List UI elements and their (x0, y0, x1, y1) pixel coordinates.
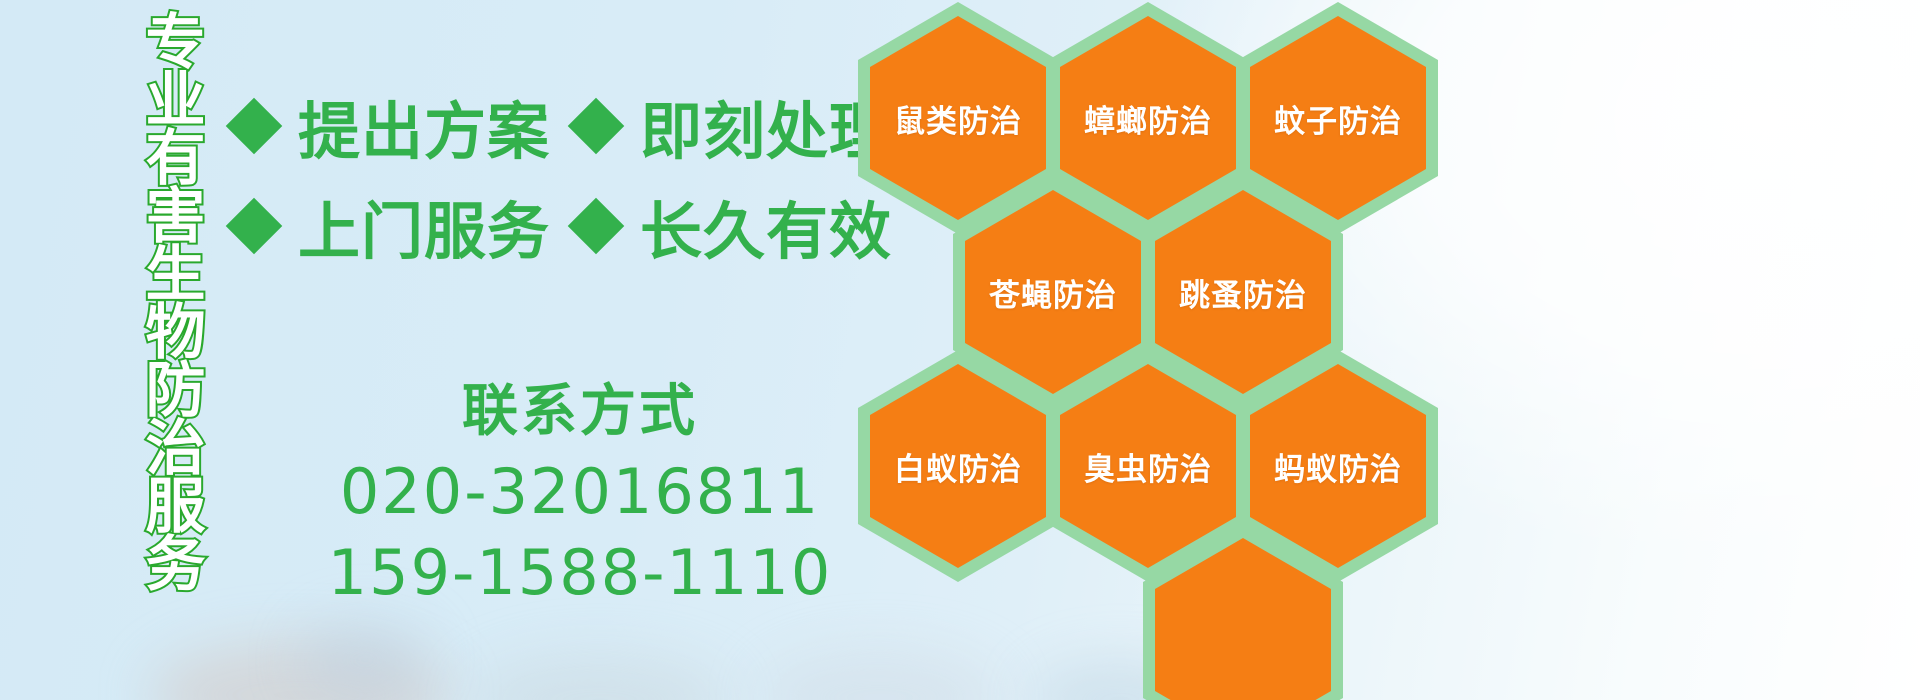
slogan-list: 提出方案 即刻处理 上门服务 长久有效 (230, 76, 890, 276)
diamond-icon (568, 198, 625, 255)
service-label: 苍蝇防治 (989, 270, 1117, 315)
service-label: 蚊子防治 (1274, 96, 1402, 141)
service-label: 鼠类防治 (894, 96, 1022, 141)
hex-inner (1155, 538, 1331, 700)
diamond-icon (226, 198, 283, 255)
hex-inner: 蟑螂防治 (1060, 16, 1236, 220)
contact-block: 联系方式 020-32016811 159-1588-1110 (230, 380, 930, 614)
service-honeycomb: 鼠类防治 蟑螂防治 蚊子防治 苍蝇防治 跳蚤防治 白蚁防治 (858, 0, 1498, 692)
pest-control-banner: 专业有害生物防治服务 提出方案 即刻处理 上门服务 长久有效 联系方式 020-… (0, 0, 1920, 700)
contact-label: 联系方式 (230, 380, 930, 444)
background-blur-blob (150, 640, 450, 700)
diamond-icon (568, 98, 625, 155)
slogan-row: 提出方案 即刻处理 (230, 76, 890, 176)
service-label: 跳蚤防治 (1179, 270, 1307, 315)
service-label: 蟑螂防治 (1084, 96, 1212, 141)
hex-inner: 臭虫防治 (1060, 364, 1236, 568)
vertical-headline: 专业有害生物防治服务 (104, 10, 200, 570)
hex-inner: 蚊子防治 (1250, 16, 1426, 220)
phone-number-mobile[interactable]: 159-1588-1110 (230, 533, 930, 614)
service-label: 臭虫防治 (1084, 444, 1212, 489)
hex-inner: 蚂蚁防治 (1250, 364, 1426, 568)
slogan-row: 上门服务 长久有效 (230, 176, 890, 276)
slogan-text: 上门服务 (298, 181, 550, 271)
service-label: 蚂蚁防治 (1274, 444, 1402, 489)
slogan-text: 提出方案 (298, 81, 550, 171)
hex-inner: 白蚁防治 (870, 364, 1046, 568)
phone-number-landline[interactable]: 020-32016811 (230, 452, 930, 533)
hex-inner: 苍蝇防治 (965, 190, 1141, 394)
background-blur-blob (300, 620, 430, 700)
hex-inner: 鼠类防治 (870, 16, 1046, 220)
slogan-text: 即刻处理 (640, 81, 892, 171)
service-label: 白蚁防治 (894, 444, 1022, 489)
background-blur-blob (470, 655, 730, 700)
diamond-icon (226, 98, 283, 155)
hex-inner: 跳蚤防治 (1155, 190, 1331, 394)
slogan-text: 长久有效 (640, 181, 892, 271)
